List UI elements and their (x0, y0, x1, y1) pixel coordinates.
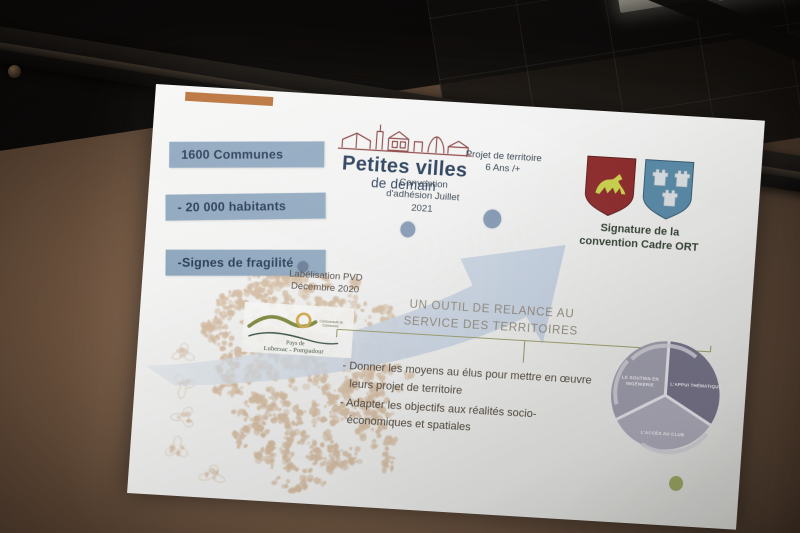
arms-lubersac-icon (584, 156, 636, 217)
slide-accent-bar (185, 92, 273, 106)
coats-of-arms-group (580, 152, 700, 225)
slide-canvas: Communauté de Communes Pays de Lubersac … (127, 84, 765, 530)
three-segment-donut (601, 332, 729, 459)
bullet-list: - Donner les moyens au élus pour mettre … (338, 358, 599, 446)
arms-pompadour-icon (642, 160, 694, 221)
photo-scene: Communauté de Communes Pays de Lubersac … (0, 0, 800, 533)
banner-communes: 1600 Communes (169, 141, 324, 167)
banner-habitants: - 20 000 habitants (165, 193, 325, 221)
projection-screen: Communauté de Communes Pays de Lubersac … (127, 84, 765, 530)
green-accent-dot (669, 476, 684, 492)
timeline-label-convention: Convention d'adhésion Juillet 2021 (373, 175, 471, 217)
